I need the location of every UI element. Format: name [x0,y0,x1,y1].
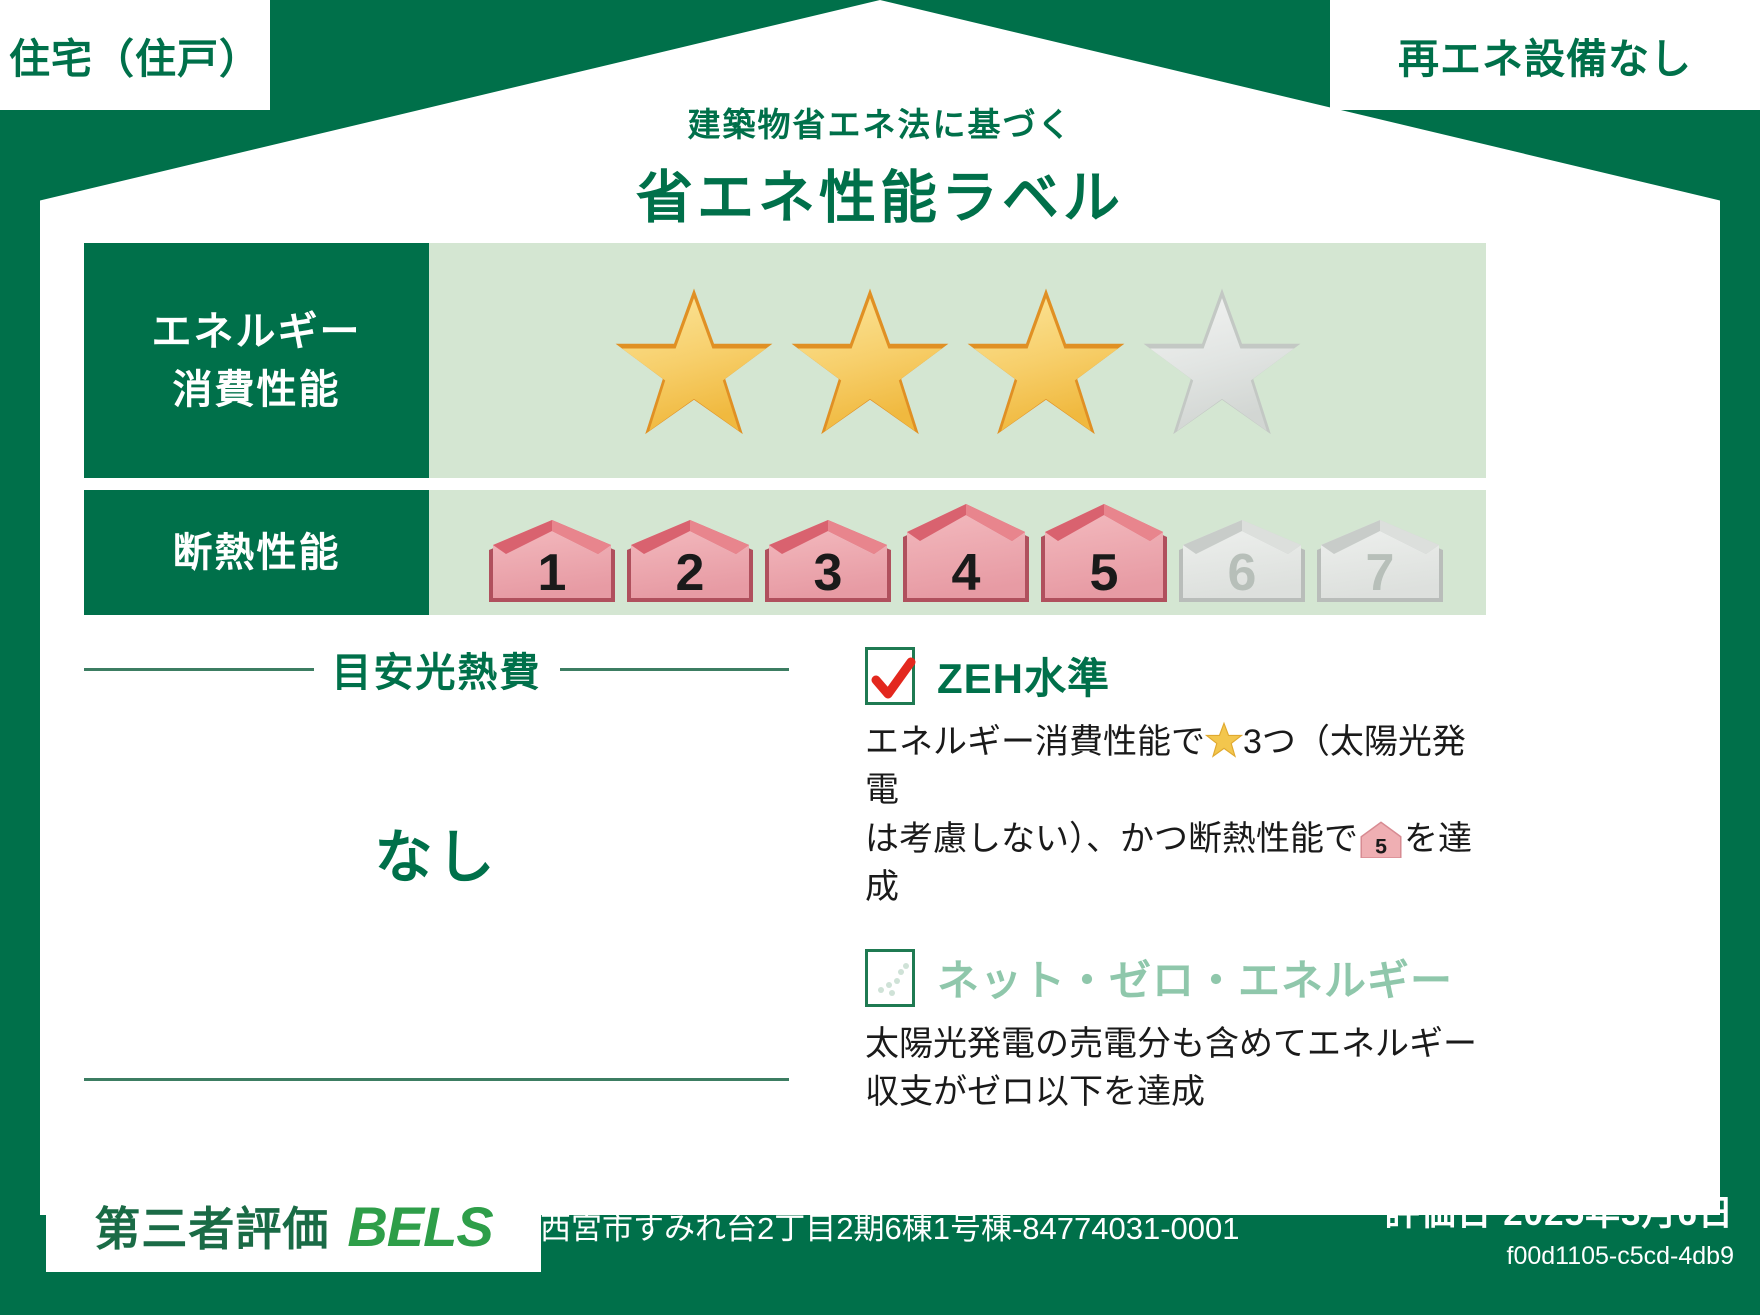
dwelling-type-tag: 住宅（住戸） [0,0,270,110]
insulation-house-empty: 7 [1314,498,1446,608]
zeh-desc-stars: 3つ [1243,723,1296,761]
evaluation-date: 評価日 2025年3月6日 [1384,1185,1734,1236]
zeh-description: エネルギー消費性能で 3つ（太陽光発電 は考慮しない）、かつ断熱性能で 5 を達… [865,718,1485,911]
star-filled-icon [966,283,1126,438]
insulation-house-filled: 5 [1038,498,1170,608]
star-filled-icon [614,283,774,438]
zeh-title: ZEH水準 [937,645,1110,706]
zeh-desc-part1: エネルギー消費性能で [865,723,1205,761]
utility-heading-text: 目安光熱費 [332,640,542,698]
insulation-level-number: 3 [813,544,842,602]
insulation-level-number: 7 [1365,544,1394,602]
insulation-level-number: 4 [951,544,980,602]
insulation-level-number: 6 [1227,544,1256,602]
bels-badge-jp-label: 第三者評価 [94,1193,329,1259]
insulation-performance-label-cell: 断熱性能 [84,490,429,615]
nze-title: ネット・ゼロ・エネルギー [937,947,1453,1008]
nze-heading: ネット・ゼロ・エネルギー [865,947,1485,1008]
star-filled-icon [790,283,950,438]
insulation-performance-levels-cell: 1234567 [429,490,1486,615]
nze-desc-line1: 太陽光発電の売電分も含めてエネルギー [865,1025,1477,1063]
utility-rule-right [560,668,790,671]
inline-house-level-icon: 5 [1358,820,1404,858]
insulation-level-number: 1 [537,544,566,602]
inline-house-level-number: 5 [1375,834,1387,858]
insulation-house-filled: 2 [624,498,756,608]
insulation-house-empty: 6 [1176,498,1308,608]
insulation-level-number: 2 [675,544,704,602]
energy-performance-stars-cell [429,243,1486,478]
energy-performance-row: エネルギー 消費性能 [84,243,1486,478]
insulation-performance-row: 断熱性能 1234567 [84,490,1486,615]
insulation-house-filled: 4 [900,498,1032,608]
zeh-criterion: ZEH水準 エネルギー消費性能で 3つ（太陽光発電 は考慮しない）、かつ断熱性能… [865,645,1485,911]
utility-cost-heading: 目安光熱費 [84,640,789,698]
nze-criterion: ネット・ゼロ・エネルギー 太陽光発電の売電分も含めてエネルギー 収支がゼロ以下を… [865,947,1485,1117]
energy-label-line1: エネルギー [152,303,362,361]
insulation-level-number: 5 [1089,544,1118,602]
label-title-block: 建築物省エネ法に基づく 省エネ性能ラベル [0,98,1760,234]
insulation-label: 断熱性能 [173,524,341,582]
renewable-equipment-tag: 再エネ設備なし [1330,0,1760,110]
nze-description: 太陽光発電の売電分も含めてエネルギー 収支がゼロ以下を達成 [865,1020,1485,1117]
zeh-heading: ZEH水準 [865,645,1485,706]
insulation-level-scale: 1234567 [470,498,1446,608]
bels-badge: 第三者評価 BELS [46,1180,541,1272]
star-empty-icon [1142,283,1302,438]
energy-label-line2: 消費性能 [173,361,341,419]
utility-cost-block: 目安光熱費 なし [84,640,789,970]
zeh-desc-part2a: は考慮しない）、かつ断熱性能で [865,820,1358,858]
insulation-house-filled: 1 [486,498,618,608]
bels-badge-en-label: BELS [347,1194,492,1259]
energy-performance-label: 住宅（住戸） 再エネ設備なし 建築物省エネ法に基づく 省エネ性能ラベル エネルギ… [0,0,1760,1315]
utility-cost-value: なし [84,810,789,894]
building-identifier: 西宮市すみれ台2丁目2期6棟1号棟-84774031-0001 [540,1203,1240,1248]
star-rating [614,283,1302,438]
evaluation-uuid: f00d1105-c5cd-4db9 [1384,1242,1734,1271]
title-main: 省エネ性能ラベル [0,152,1760,234]
utility-rule-left [84,668,314,671]
empty-check-icon [868,952,918,1010]
inline-star-icon [1205,721,1243,759]
utility-bottom-rule [84,1078,789,1081]
evaluation-info: 評価日 2025年3月6日 f00d1105-c5cd-4db9 [1384,1185,1734,1271]
check-icon [868,650,918,708]
criteria-block: ZEH水準 エネルギー消費性能で 3つ（太陽光発電 は考慮しない）、かつ断熱性能… [865,645,1485,1117]
zeh-checkbox[interactable] [865,647,915,705]
insulation-house-filled: 3 [762,498,894,608]
energy-performance-label-cell: エネルギー 消費性能 [84,243,429,478]
nze-checkbox[interactable] [865,949,915,1007]
nze-desc-line2: 収支がゼロ以下を達成 [865,1073,1205,1111]
title-subtitle: 建築物省エネ法に基づく [0,98,1760,146]
